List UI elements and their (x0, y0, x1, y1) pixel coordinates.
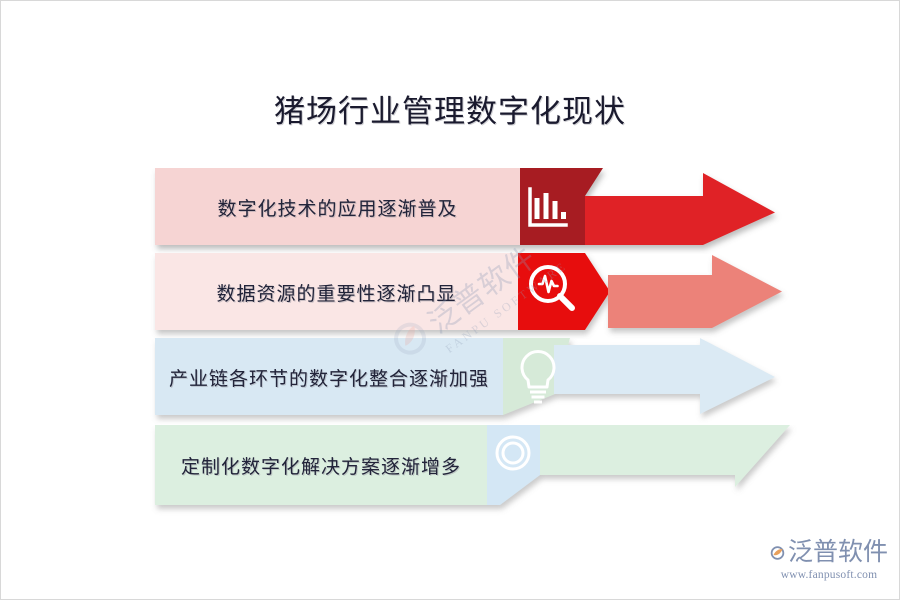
brand-logo[interactable]: 泛普软件 www.fanpusoft.com (770, 538, 888, 588)
row-3[interactable]: 产业链各环节的数字化整合逐渐加强 (0, 338, 900, 416)
row-1-arrow (585, 173, 775, 245)
row-3-arrow (554, 338, 775, 414)
row-4-arrow (540, 425, 790, 487)
row-2[interactable]: 数据资源的重要性逐渐凸显 (0, 253, 900, 331)
row-4[interactable]: 定制化数字化解决方案逐渐增多 (0, 425, 900, 505)
slide-canvas: 猪场行业管理数字化现状 泛普软件 FANPU SOFTWARE (0, 0, 900, 600)
row-3-shape (0, 338, 900, 428)
brand-logo-main: 泛普软件 (770, 538, 888, 568)
row-4-shape (0, 425, 900, 517)
page-title: 猪场行业管理数字化现状 (0, 92, 900, 132)
brand-logo-url: www.fanpusoft.com (770, 569, 888, 581)
row-1[interactable]: 数字化技术的应用逐渐普及 (0, 168, 900, 246)
row-2-panel (155, 253, 518, 330)
row-2-arrow (608, 255, 782, 328)
brand-logo-text: 泛普软件 (788, 539, 888, 567)
row-1-panel (155, 168, 520, 245)
row-4-panel (155, 425, 487, 505)
row-3-panel (155, 338, 503, 415)
row-2-shape (0, 253, 900, 339)
fanpu-logo-icon (770, 538, 785, 568)
row-1-shape (0, 168, 900, 254)
